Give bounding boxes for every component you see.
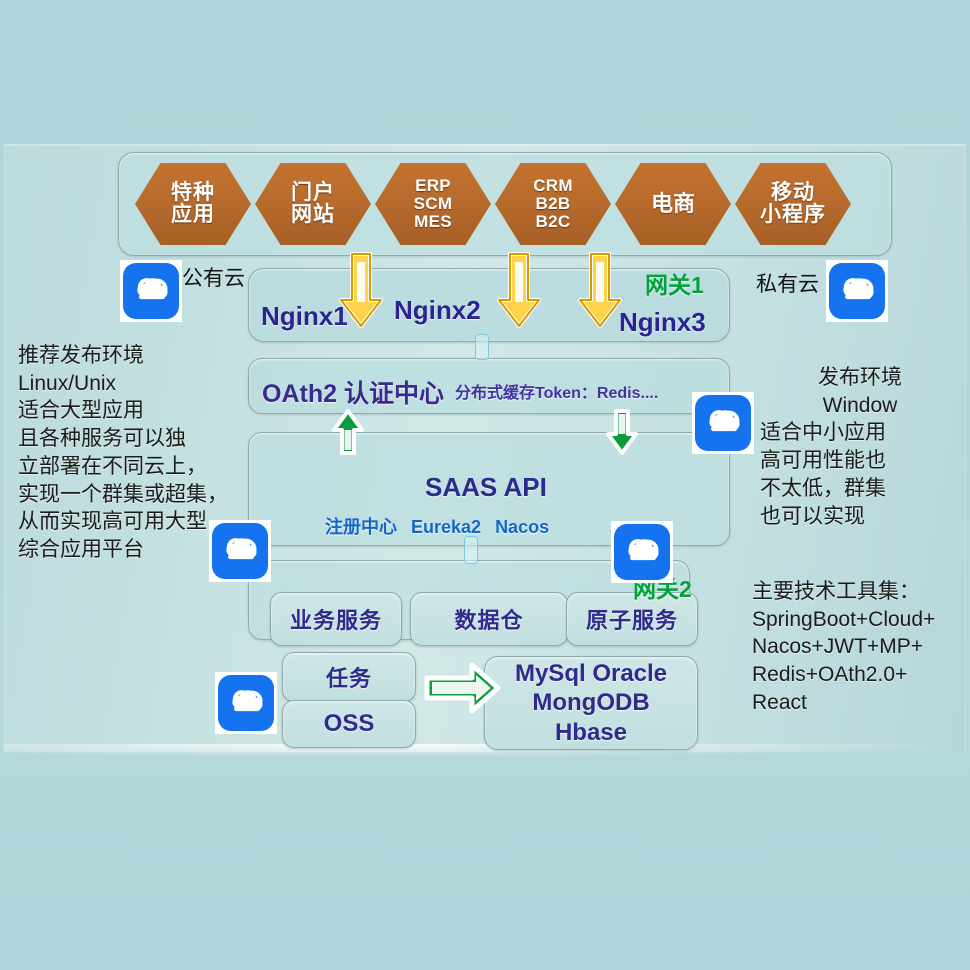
gateway1-label: 网关1 <box>645 266 704 300</box>
cloud-glyph <box>621 531 662 572</box>
tech-note-line-1: SpringBoot+Cloud+ <box>752 606 967 634</box>
auth-token-cache-label: 分布式缓存Token：Redis.... <box>455 379 658 403</box>
database-box[interactable]: MySql Oracle MongODB Hbase <box>484 656 698 750</box>
right-note: 发布环境 Window 适合中小应用 高可用性能也 不太低，群集 也可以实现 <box>760 364 960 530</box>
right-note-line-1: Window <box>760 392 960 420</box>
service-oss[interactable]: OSS <box>282 700 416 748</box>
app-hex-mobile-line2: 小程序 <box>760 204 826 226</box>
connector-gw-to-auth <box>475 334 489 360</box>
app-hex-portal-line2: 网站 <box>291 204 335 226</box>
left-note-line-5: 实现一个群集或超集， <box>18 481 228 509</box>
service-task[interactable]: 任务 <box>282 652 416 702</box>
public-cloud-label: 公有云 <box>182 262 245 292</box>
app-hex-special[interactable]: 特种 应用 <box>135 163 251 245</box>
nginx1-node[interactable]: Nginx1 <box>261 301 348 332</box>
down-arrow-yellow-1 <box>339 252 383 330</box>
cloud-glyph <box>702 402 743 443</box>
cloud-glyph <box>219 530 260 571</box>
up-arrow-green <box>331 408 365 456</box>
database-line2: MongODB <box>532 688 649 717</box>
right-note-line-3: 高可用性能也 <box>760 447 960 475</box>
cloud-icon-storage[interactable] <box>215 672 277 734</box>
service-data-warehouse[interactable]: 数据仓 <box>410 592 568 646</box>
app-hex-mobile[interactable]: 移动 小程序 <box>735 163 851 245</box>
app-hex-ecommerce[interactable]: 电商 <box>615 163 731 245</box>
app-hex-crm-line2: B2B <box>533 195 573 213</box>
right-note-line-4: 不太低，群集 <box>760 475 960 503</box>
app-hex-erp-line3: MES <box>414 213 453 231</box>
app-hex-ecommerce-line1: 电商 <box>651 192 695 215</box>
left-note-line-7: 综合应用平台 <box>18 536 228 564</box>
down-arrow-yellow-2 <box>497 252 541 330</box>
tech-note-line-4: React <box>752 689 967 717</box>
service-business[interactable]: 业务服务 <box>270 592 402 646</box>
registry-row: 注册中心Eureka2Nacos <box>325 513 549 539</box>
cloud-glyph <box>225 682 266 723</box>
right-note-line-5: 也可以实现 <box>760 503 960 531</box>
app-hex-erp-line1: ERP <box>414 177 453 195</box>
left-note-line-2: 适合大型应用 <box>18 397 228 425</box>
left-note-line-4: 立部署在不同云上， <box>18 453 228 481</box>
right-note-line-0: 发布环境 <box>760 364 960 392</box>
cloud-glyph <box>836 270 877 311</box>
left-note-line-6: 从而实现高可用大型 <box>18 508 228 536</box>
left-note: 推荐发布环境 Linux/Unix 适合大型应用 且各种服务可以独 立部署在不同… <box>18 342 228 564</box>
right-note-line-2: 适合中小应用 <box>760 419 960 447</box>
saas-api-title: SAAS API <box>425 472 547 503</box>
app-hex-portal-line1: 门户 <box>291 182 335 204</box>
registry-eureka[interactable]: Eureka2 <box>411 517 481 537</box>
app-hex-special-line1: 特种 <box>171 182 215 204</box>
cloud-icon-gateway2[interactable] <box>611 521 673 583</box>
app-hex-special-line2: 应用 <box>171 204 215 226</box>
registry-nacos[interactable]: Nacos <box>495 517 549 537</box>
nginx2-node[interactable]: Nginx2 <box>394 295 481 326</box>
app-hex-mobile-line1: 移动 <box>760 182 826 204</box>
app-hex-portal[interactable]: 门户 网站 <box>255 163 371 245</box>
database-line1: MySql Oracle <box>515 659 667 688</box>
tech-note-line-2: Nacos+JWT+MP+ <box>752 633 967 661</box>
app-hex-crm-line3: B2C <box>533 213 573 231</box>
down-arrow-yellow-3 <box>578 252 622 330</box>
architecture-diagram: 特种 应用 门户 网站 ERP SCM MES CRM B2B B2C <box>0 0 970 970</box>
connector-saas-to-services <box>464 536 478 564</box>
cloud-glyph <box>130 270 171 311</box>
cloud-icon-saas-left[interactable] <box>209 520 271 582</box>
tech-note-line-3: Redis+OAth2.0+ <box>752 661 967 689</box>
database-line3: Hbase <box>555 718 627 747</box>
cloud-icon-private[interactable] <box>826 260 888 322</box>
tech-note-line-0: 主要技术工具集： <box>752 578 967 606</box>
left-note-line-3: 且各种服务可以独 <box>18 425 228 453</box>
app-hex-erp-line2: SCM <box>414 195 453 213</box>
right-arrow-green-to-db <box>424 660 502 716</box>
registry-label: 注册中心 <box>325 517 397 537</box>
left-note-line-0: 推荐发布环境 <box>18 342 228 370</box>
app-hex-crm[interactable]: CRM B2B B2C <box>495 163 611 245</box>
left-note-line-1: Linux/Unix <box>18 370 228 398</box>
private-cloud-label: 私有云 <box>756 268 819 298</box>
down-arrow-green <box>605 408 639 456</box>
application-layer-container: 特种 应用 门户 网站 ERP SCM MES CRM B2B B2C <box>118 152 892 256</box>
tech-stack-note: 主要技术工具集： SpringBoot+Cloud+ Nacos+JWT+MP+… <box>752 578 967 717</box>
auth-center-title: OAth2 认证中心 <box>262 374 444 410</box>
cloud-icon-public[interactable] <box>120 260 182 322</box>
cloud-icon-auth[interactable] <box>692 392 754 454</box>
app-hex-erp[interactable]: ERP SCM MES <box>375 163 491 245</box>
app-hex-crm-line1: CRM <box>533 177 573 195</box>
nginx3-node[interactable]: Nginx3 <box>619 307 706 338</box>
